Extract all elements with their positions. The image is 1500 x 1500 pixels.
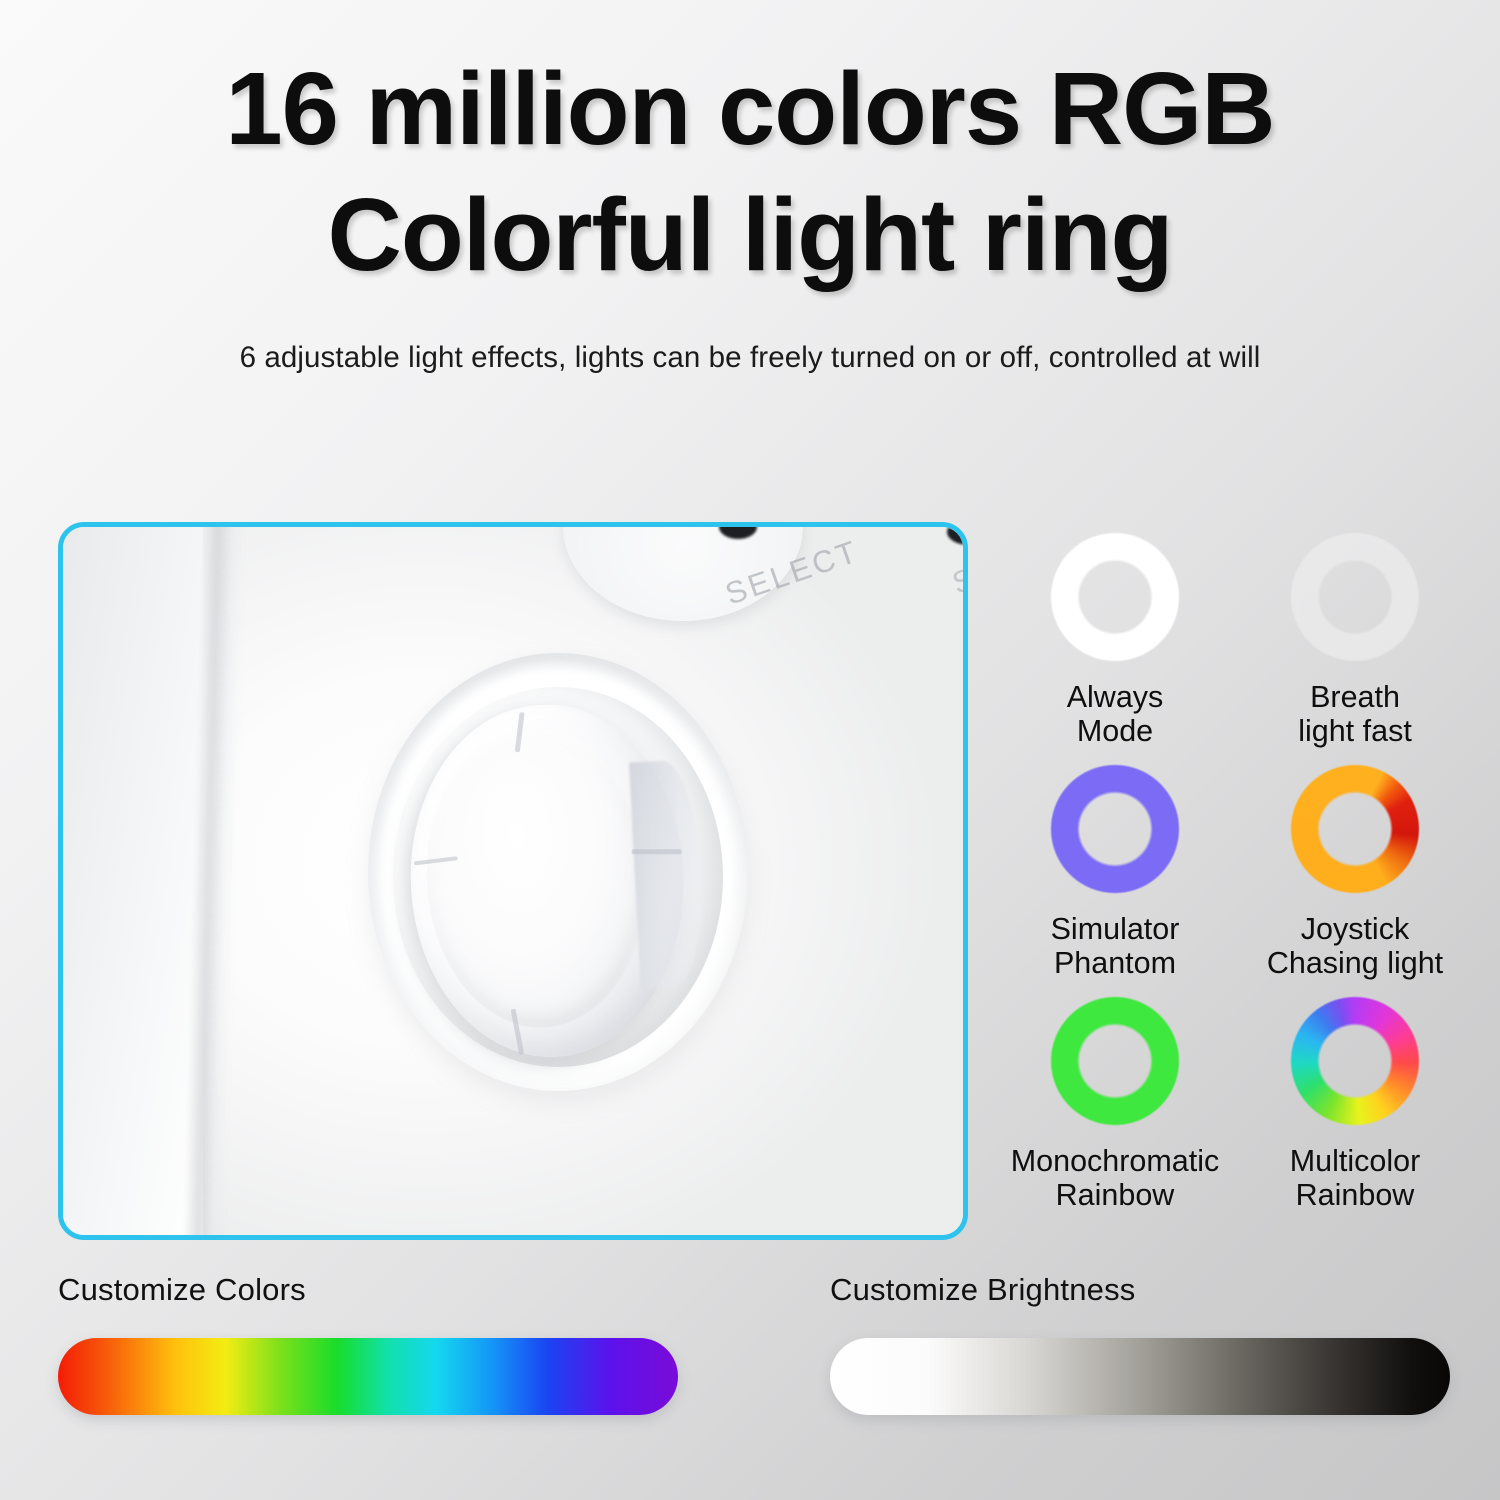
ring-icon-joystick-chasing-light bbox=[1290, 764, 1420, 894]
headline-line-1: 16 million colors RGB bbox=[225, 51, 1274, 166]
effect-label: Multicolor Rainbow bbox=[1290, 1144, 1421, 1212]
effect-label: Breath light fast bbox=[1298, 680, 1412, 748]
customization-sliders: Customize Colors Customize Brightness bbox=[0, 1272, 1500, 1500]
controller-left-bevel bbox=[63, 527, 203, 1240]
effect-joystick-chasing-light[interactable]: Joystick Chasing light bbox=[1240, 764, 1470, 996]
effect-label: Monochromatic Rainbow bbox=[1011, 1144, 1220, 1212]
effect-monochromatic-rainbow[interactable]: Monochromatic Rainbow bbox=[1000, 996, 1230, 1228]
headline-line-2: Colorful light ring bbox=[60, 172, 1440, 298]
joystick-seam bbox=[632, 849, 682, 854]
page-subtitle: 6 adjustable light effects, lights can b… bbox=[0, 341, 1500, 375]
main-content: SELECT S Always Mode Breath light fast S… bbox=[0, 518, 1500, 1263]
effect-label: Simulator Phantom bbox=[1051, 912, 1180, 980]
customize-colors-group: Customize Colors bbox=[58, 1272, 678, 1415]
brightness-slider[interactable] bbox=[830, 1338, 1450, 1415]
ring-icon-monochromatic-rainbow bbox=[1050, 996, 1180, 1126]
effect-label: Always Mode bbox=[1067, 680, 1164, 748]
color-slider[interactable] bbox=[58, 1338, 678, 1415]
product-photo-frame: SELECT S bbox=[58, 522, 968, 1240]
customize-brightness-group: Customize Brightness bbox=[830, 1272, 1450, 1415]
ring-icon-multicolor-rainbow bbox=[1290, 996, 1420, 1126]
effect-simulator-phantom[interactable]: Simulator Phantom bbox=[1000, 764, 1230, 996]
effect-always-mode[interactable]: Always Mode bbox=[1000, 532, 1230, 764]
effect-multicolor-rainbow[interactable]: Multicolor Rainbow bbox=[1240, 996, 1470, 1228]
customize-brightness-label: Customize Brightness bbox=[830, 1272, 1450, 1308]
customize-colors-label: Customize Colors bbox=[58, 1272, 678, 1308]
controller-button-nub-right bbox=[947, 522, 968, 545]
light-effects-grid: Always Mode Breath light fast Simulator … bbox=[1000, 532, 1470, 1228]
product-photo: SELECT S bbox=[63, 527, 963, 1235]
ring-icon-simulator-phantom bbox=[1050, 764, 1180, 894]
page-title: 16 million colors RGB Colorful light rin… bbox=[0, 46, 1500, 297]
ring-icon-always-mode bbox=[1050, 532, 1180, 662]
header: 16 million colors RGB Colorful light rin… bbox=[0, 0, 1500, 375]
effect-breath-light-fast[interactable]: Breath light fast bbox=[1240, 532, 1470, 764]
joystick-cap-dish bbox=[419, 722, 654, 1033]
select-embossed-label-partial: S bbox=[948, 560, 968, 602]
ring-icon-breath-light-fast bbox=[1290, 532, 1420, 662]
effect-label: Joystick Chasing light bbox=[1267, 912, 1443, 980]
